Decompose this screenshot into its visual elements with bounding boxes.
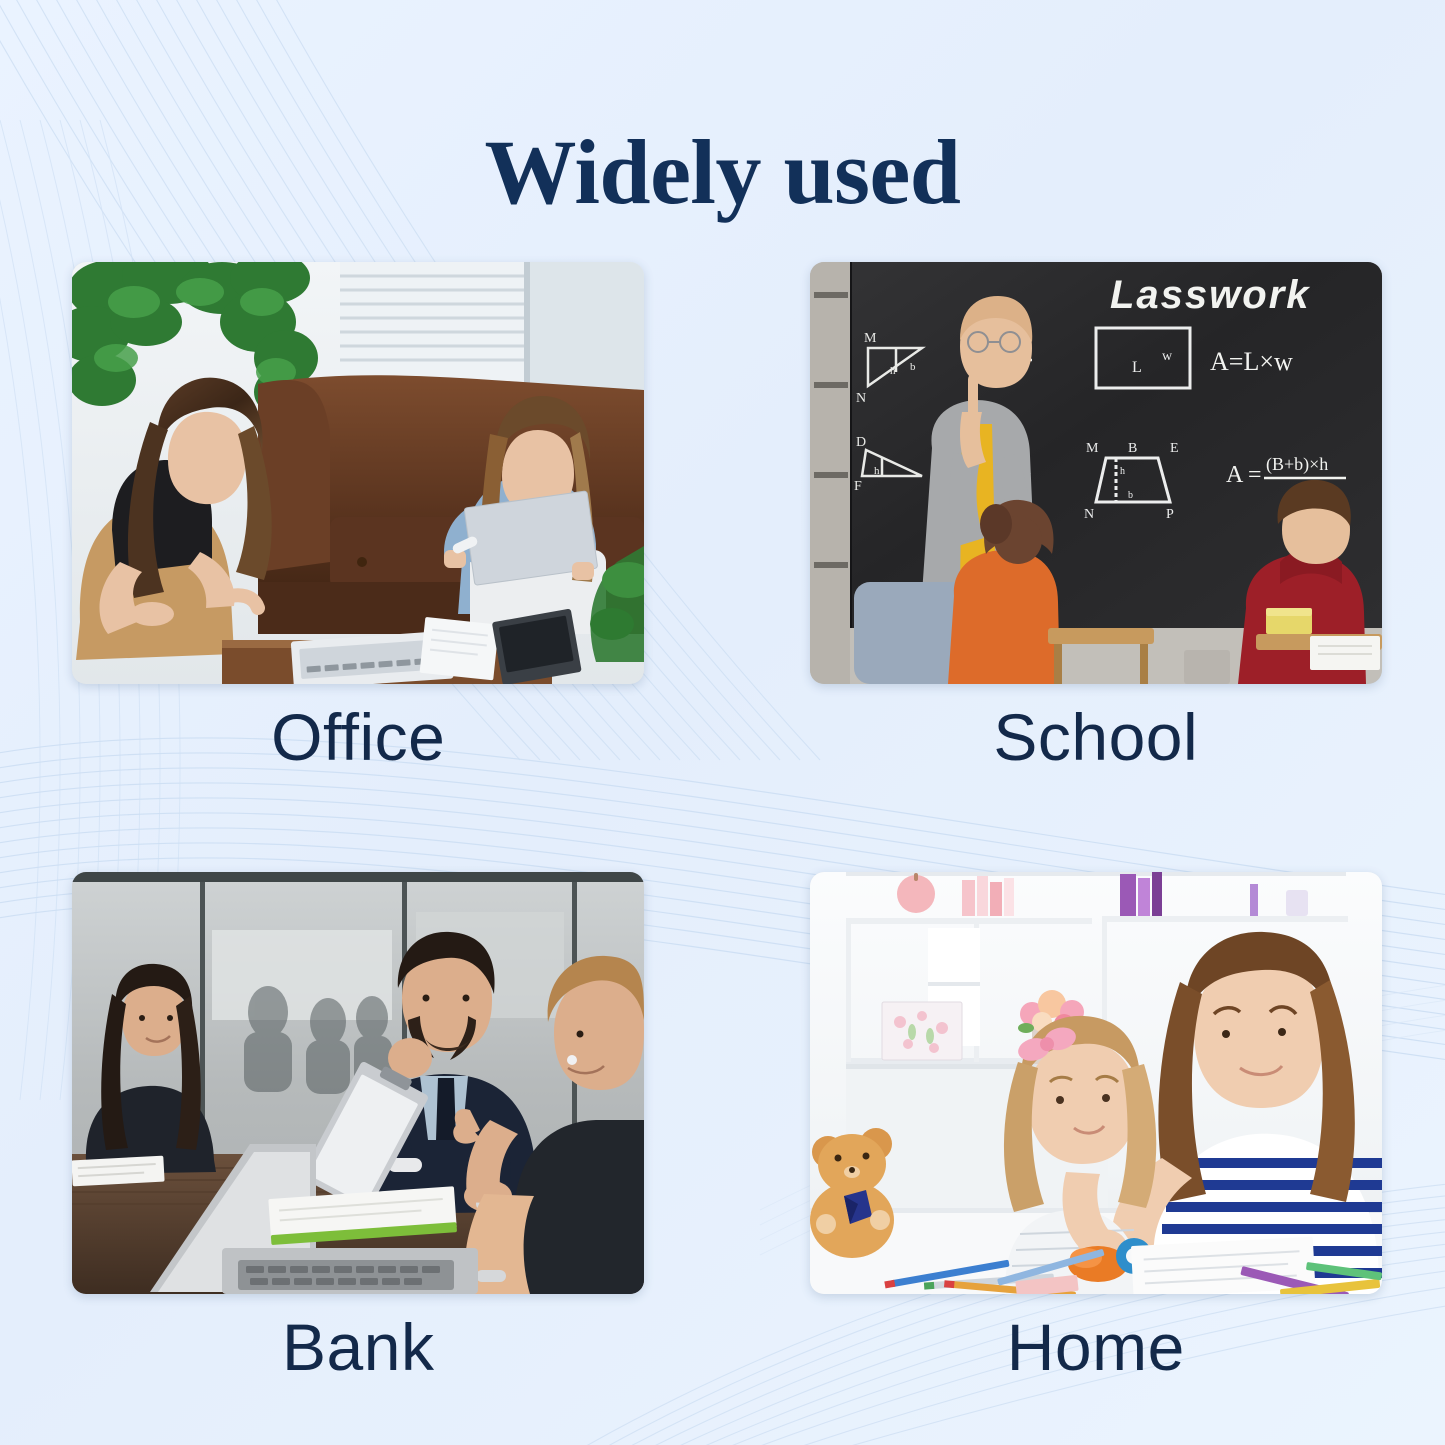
scenario-label-office: Office — [271, 704, 445, 770]
svg-text:w: w — [1162, 349, 1173, 364]
svg-text:L: L — [1132, 359, 1142, 376]
scenario-label-school: School — [993, 704, 1198, 770]
svg-text:h: h — [890, 365, 896, 377]
svg-text:A =: A = — [1226, 462, 1262, 488]
svg-text:N: N — [856, 391, 866, 406]
svg-text:A=L×w: A=L×w — [1210, 347, 1293, 376]
svg-text:M: M — [864, 331, 877, 346]
svg-text:F: F — [854, 479, 862, 494]
school-photo: Lasswork M N h b = b×h 2 — [810, 262, 1382, 684]
svg-text:M: M — [1086, 441, 1099, 456]
home-photo — [810, 872, 1382, 1294]
scenario-card-home: Home — [800, 872, 1393, 1402]
scenario-card-school: Lasswork M N h b = b×h 2 — [800, 262, 1393, 792]
svg-text:h: h — [1120, 466, 1125, 477]
page-title: Widely used — [0, 124, 1445, 221]
svg-text:(B+b)×h: (B+b)×h — [1266, 454, 1328, 475]
svg-text:h: h — [874, 465, 880, 477]
scenario-card-bank: Bank — [62, 872, 655, 1402]
poster-root: Widely used — [0, 0, 1445, 1445]
office-photo — [72, 262, 644, 684]
svg-text:B: B — [1128, 441, 1137, 456]
svg-text:b: b — [910, 361, 916, 373]
scenario-label-bank: Bank — [282, 1314, 434, 1380]
svg-text:D: D — [856, 435, 866, 450]
scenario-label-home: Home — [1007, 1314, 1185, 1380]
svg-text:P: P — [1166, 507, 1174, 522]
scenario-card-office: Office — [62, 262, 655, 792]
bank-photo — [72, 872, 644, 1294]
svg-text:b: b — [1128, 490, 1133, 501]
svg-text:Lasswork: Lasswork — [1110, 273, 1311, 317]
svg-text:E: E — [1170, 441, 1179, 456]
svg-text:N: N — [1084, 507, 1094, 522]
usage-scenarios-grid: Office — [62, 262, 1392, 1402]
